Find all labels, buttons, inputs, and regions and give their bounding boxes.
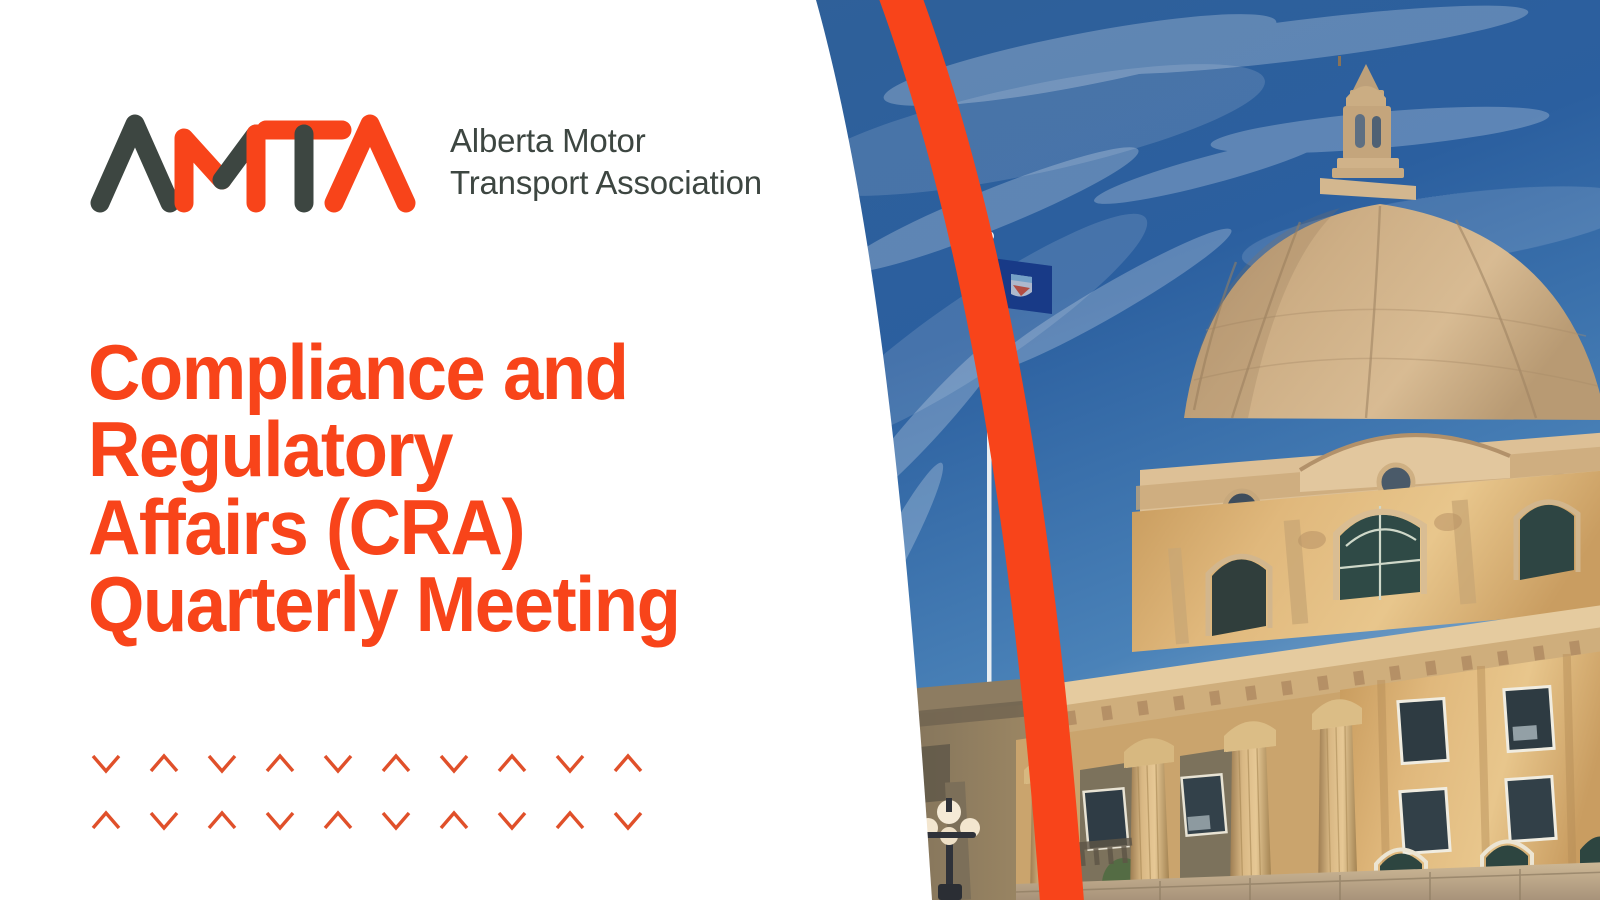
chevron-up-icon	[376, 748, 416, 778]
amta-wordmark: Alberta Motor Transport Association	[450, 120, 762, 204]
chevron-down-icon	[550, 748, 590, 778]
chevron-down-icon	[434, 748, 474, 778]
alberta-legislature-building-photo	[780, 0, 1600, 900]
chevron-down-icon	[492, 805, 532, 835]
wordmark-line-2: Transport Association	[450, 162, 762, 204]
chevron-row	[86, 805, 648, 835]
chevron-up-icon	[434, 805, 474, 835]
chevron-up-icon	[144, 748, 184, 778]
chevron-up-icon	[492, 748, 532, 778]
chevron-down-icon	[608, 805, 648, 835]
headline-line-4: Quarterly Meeting	[88, 566, 776, 643]
chevron-up-icon	[550, 805, 590, 835]
headline-line-3: Affairs (CRA)	[88, 489, 776, 566]
chevron-down-icon	[260, 805, 300, 835]
headline-line-2: Regulatory	[88, 411, 776, 488]
chevron-down-icon	[144, 805, 184, 835]
headline-line-1: Compliance and	[88, 334, 776, 411]
chevron-row	[86, 748, 648, 778]
chevron-down-icon	[202, 748, 242, 778]
chevron-down-icon	[318, 748, 358, 778]
chevron-up-icon	[202, 805, 242, 835]
amta-monogram-icon	[88, 108, 418, 213]
chevron-down-icon	[376, 805, 416, 835]
content-column: Alberta Motor Transport Association Comp…	[0, 0, 820, 900]
chevron-down-icon	[86, 748, 126, 778]
chevron-up-icon	[260, 748, 300, 778]
chevron-up-icon	[86, 805, 126, 835]
chevron-up-icon	[318, 805, 358, 835]
chevron-up-icon	[608, 748, 648, 778]
amta-logo: Alberta Motor Transport Association	[88, 108, 762, 213]
chevron-pattern	[86, 748, 648, 862]
banner-graphic: Alberta Motor Transport Association Comp…	[0, 0, 1600, 900]
wordmark-line-1: Alberta Motor	[450, 120, 762, 162]
page-title: Compliance and Regulatory Affairs (CRA) …	[88, 334, 776, 643]
